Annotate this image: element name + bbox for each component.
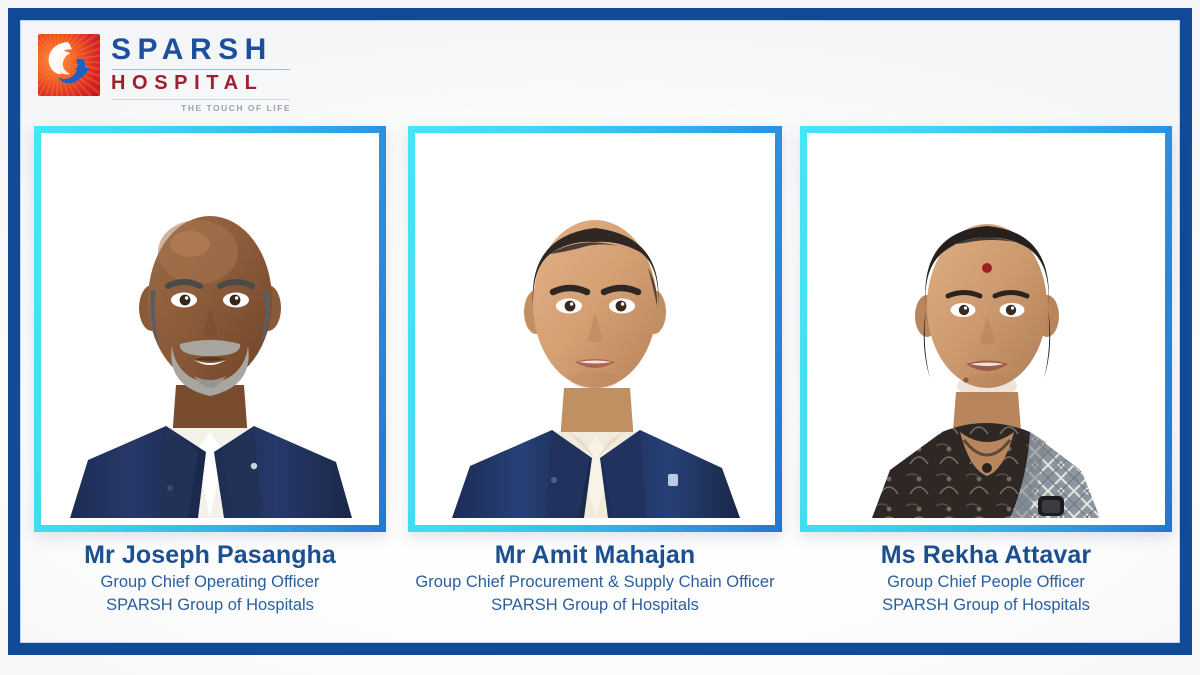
- person-org-3: SPARSH Group of Hospitals: [800, 594, 1172, 617]
- person-name-1: Mr Joseph Pasangha: [34, 541, 386, 571]
- portrait-joseph-pasangha: [48, 140, 372, 518]
- caption-3: Ms Rekha Attavar Group Chief People Offi…: [800, 541, 1172, 617]
- caption-1: Mr Joseph Pasangha Group Chief Operating…: [34, 541, 386, 617]
- person-org-1: SPARSH Group of Hospitals: [34, 594, 386, 617]
- person-role-2: Group Chief Procurement & Supply Chain O…: [396, 571, 794, 594]
- photo-frame-2: [408, 126, 782, 532]
- caption-2: Mr Amit Mahajan Group Chief Procurement …: [396, 541, 794, 617]
- person-org-2: SPARSH Group of Hospitals: [396, 594, 794, 617]
- person-name-3: Ms Rekha Attavar: [800, 541, 1172, 571]
- person-card-2[interactable]: [408, 126, 782, 532]
- photo-matte-1: [41, 133, 379, 525]
- person-card-1[interactable]: [34, 126, 386, 532]
- photo-matte-2: [415, 133, 775, 525]
- photo-matte-3: [807, 133, 1165, 525]
- photo-frame-3: [800, 126, 1172, 532]
- portrait-amit-mahajan: [422, 140, 768, 518]
- person-name-2: Mr Amit Mahajan: [396, 541, 794, 571]
- person-card-3[interactable]: [800, 126, 1172, 532]
- announcement-graphic: SPARSH HOSPITAL THE TOUCH OF LIFE: [0, 0, 1200, 675]
- person-role-1: Group Chief Operating Officer: [34, 571, 386, 594]
- photo-frame-1: [34, 126, 386, 532]
- portrait-rekha-attavar: [814, 140, 1158, 518]
- person-role-3: Group Chief People Officer: [800, 571, 1172, 594]
